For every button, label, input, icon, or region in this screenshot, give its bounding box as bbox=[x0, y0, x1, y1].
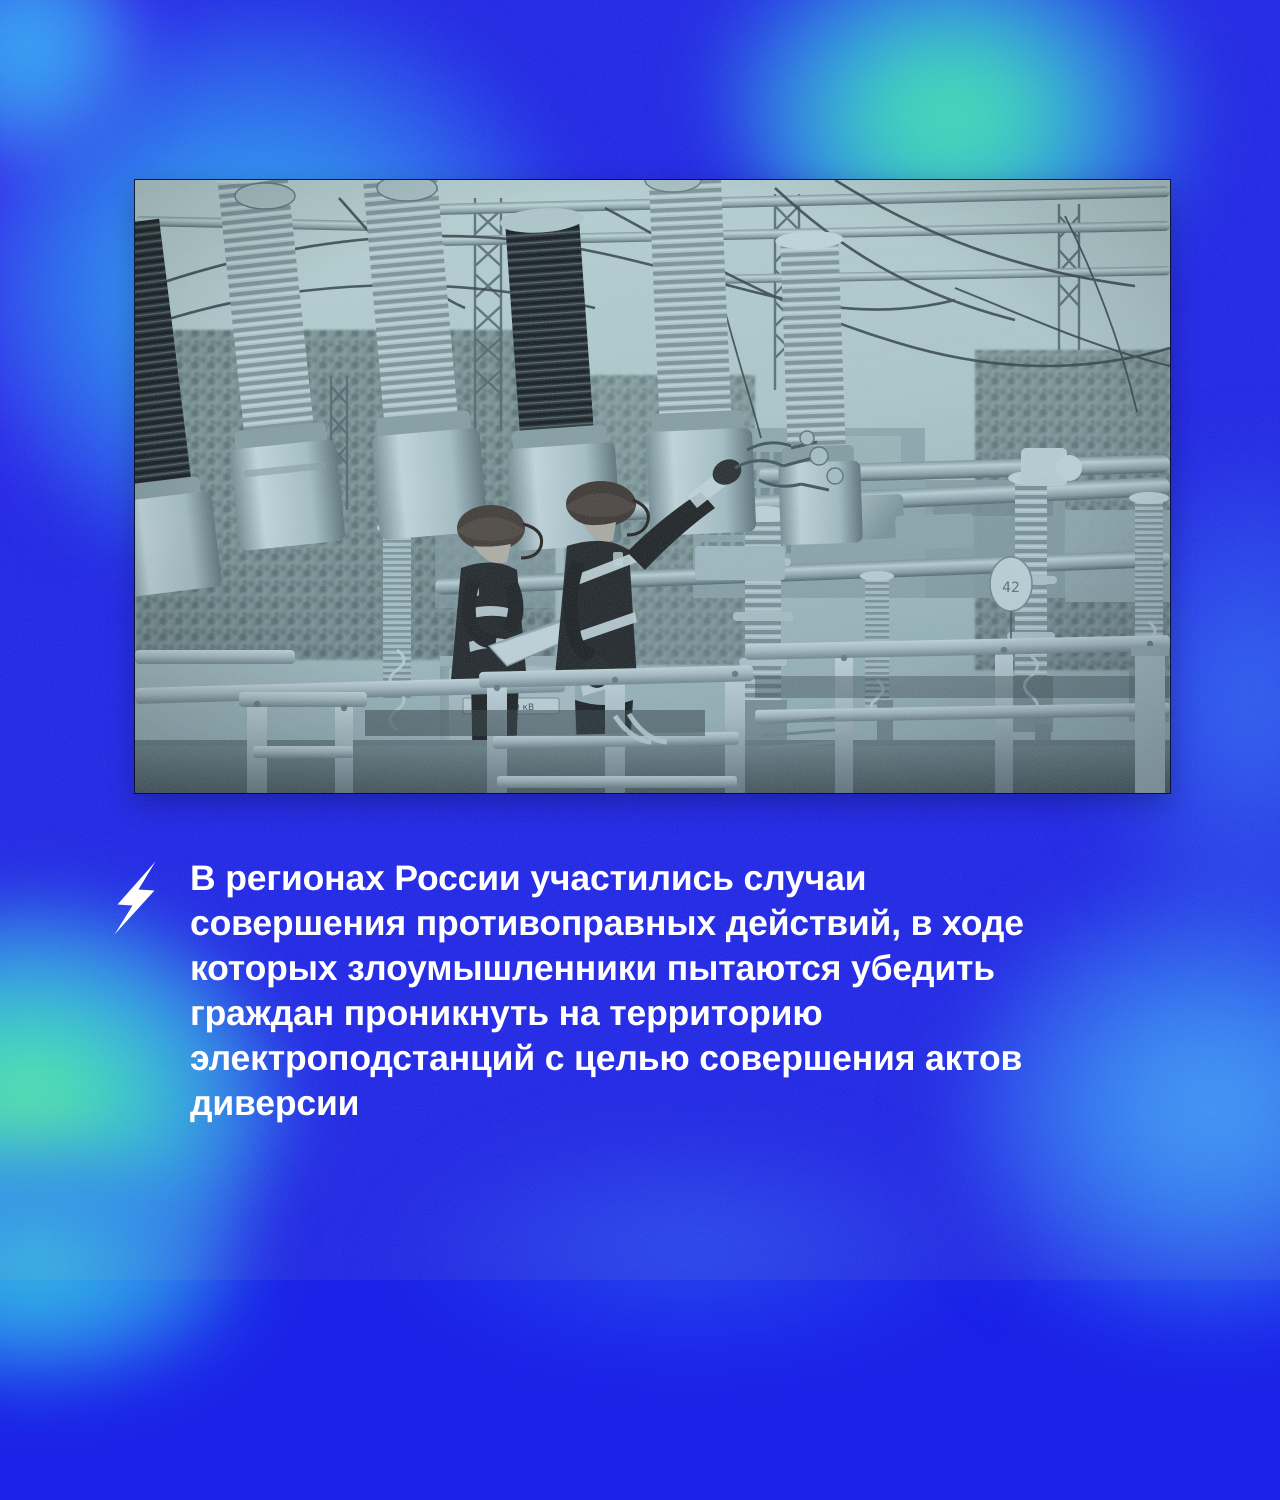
caption-line: диверсии bbox=[190, 1083, 359, 1123]
caption-line: совершения противоправных действий, в хо… bbox=[190, 903, 1024, 943]
caption-block: В регионах России участились случаи сове… bbox=[108, 856, 1168, 1126]
electrical-substation-photo: 42 bbox=[135, 180, 1170, 793]
caption-text: В регионах России участились случаи сове… bbox=[190, 856, 1168, 1126]
lightning-bolt-icon bbox=[108, 860, 164, 936]
caption-line: электроподстанций с целью совершения акт… bbox=[190, 1038, 1022, 1078]
caption-line: граждан проникнуть на территорию bbox=[190, 993, 823, 1033]
caption-line: В регионах России участились случаи bbox=[190, 858, 866, 898]
substation-illustration: 42 bbox=[135, 180, 1170, 793]
background-blob-bottom-center bbox=[380, 1120, 1000, 1440]
caption-line: которых злоумышленники пытаются убедить bbox=[190, 948, 995, 988]
